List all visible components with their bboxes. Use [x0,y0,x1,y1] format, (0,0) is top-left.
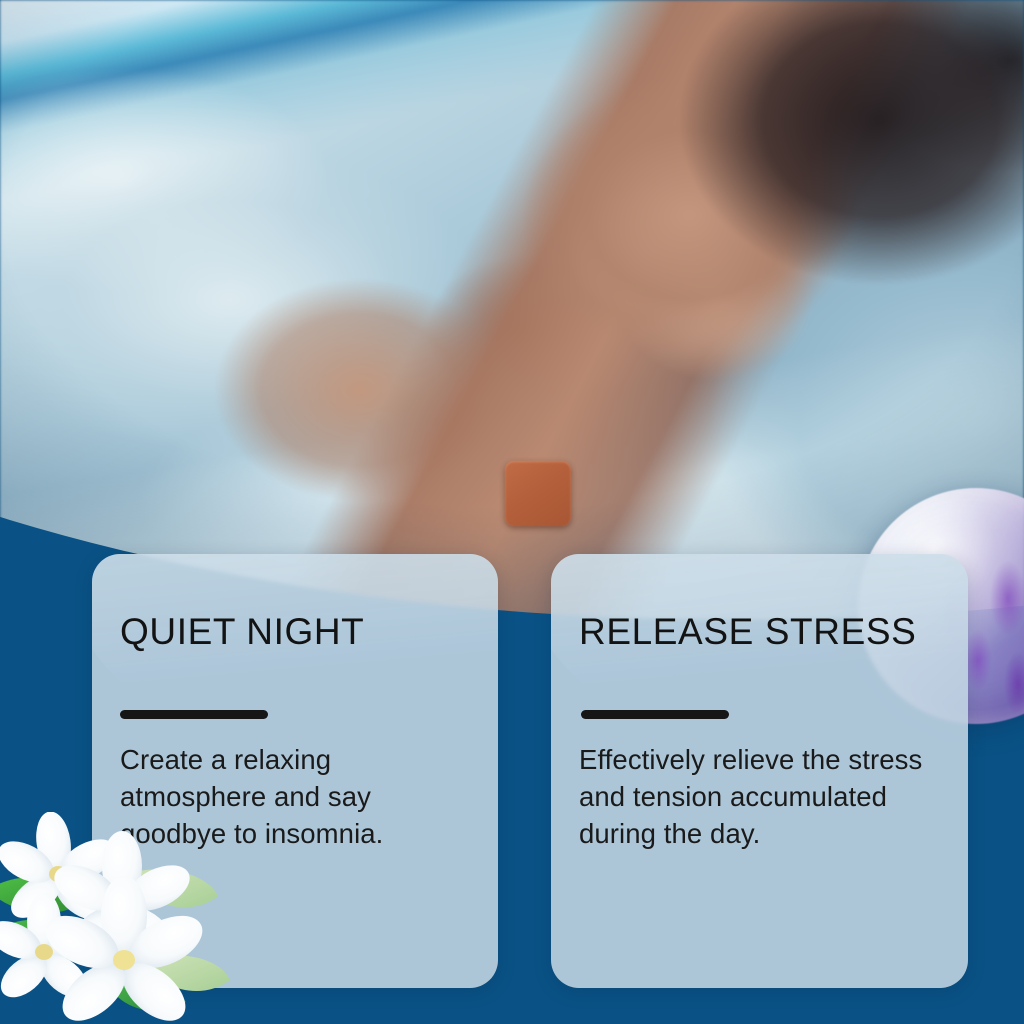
card-body: QUIET NIGHT Create a relaxing atmosphere… [92,554,498,853]
card-title: QUIET NIGHT [120,612,470,653]
card-description: Create a relaxing atmosphere and say goo… [120,741,440,853]
card-title: RELEASE STRESS [579,612,940,653]
sleep-patch-on-arm [505,461,571,526]
card-description: Effectively relieve the stress and tensi… [579,741,924,853]
sleeping-woman-image [0,0,1024,620]
feature-card-release-stress: RELEASE STRESS Effectively relieve the s… [551,554,968,988]
feature-card-quiet-night: QUIET NIGHT Create a relaxing atmosphere… [92,554,498,988]
card-body: RELEASE STRESS Effectively relieve the s… [551,554,968,853]
title-divider [581,710,729,719]
product-graphic-stage: QUIET NIGHT Create a relaxing atmosphere… [0,0,1024,1024]
title-divider [120,710,268,719]
hero-photo [0,0,1024,620]
